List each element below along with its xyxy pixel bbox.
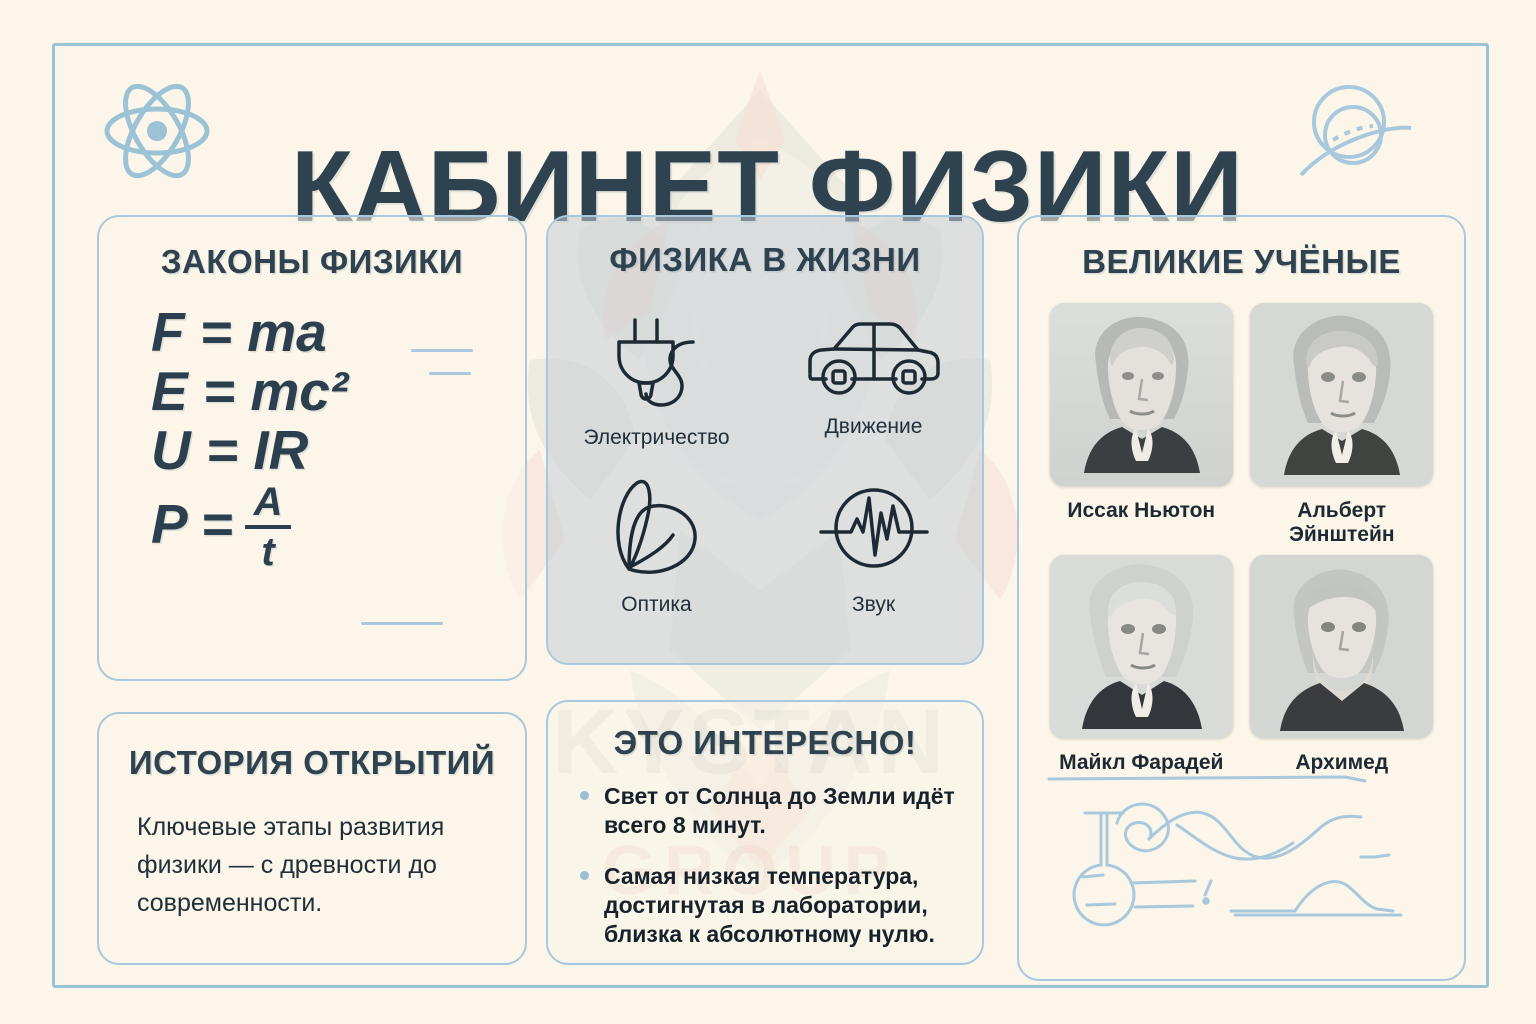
formula-item: E = mc² [151, 362, 525, 421]
fun-facts-panel-title: ЭТО ИНТЕРЕСНО! [548, 724, 982, 762]
orbit-sketch-icon [1291, 80, 1421, 190]
fun-facts-list: Свет от Солнца до Земли идёт всего 8 мин… [572, 782, 958, 949]
scientist-card[interactable]: Майкл Фарадей [1047, 555, 1236, 775]
formula-item-fraction: P = A t [151, 480, 525, 570]
life-item-label: Движение [825, 415, 923, 439]
sound-wave-icon [811, 473, 937, 583]
fun-fact-text: Свет от Солнца до Земли идёт всего 8 мин… [604, 783, 955, 838]
avatar [1250, 555, 1433, 738]
car-icon [804, 315, 944, 405]
fraction: A t [245, 482, 291, 572]
life-icon-grid: Электричество Движен [548, 293, 982, 629]
avatar [1050, 555, 1233, 738]
plug-icon [601, 304, 713, 416]
fraction-denominator: t [255, 532, 280, 572]
life-item-motion: Движение [765, 293, 982, 461]
fraction-numerator: A [248, 482, 289, 522]
life-item-label: Электричество [583, 426, 729, 450]
scientists-panel-title: ВЕЛИКИЕ УЧЁНЫЕ [1019, 243, 1464, 281]
life-panel-title: ФИЗИКА В ЖИЗНИ [548, 241, 982, 279]
fun-fact-item: Самая низкая температура, достигнутая в … [572, 862, 958, 949]
scientists-grid: Иссак Ньютон [1047, 303, 1436, 775]
laws-panel: ЗАКОНЫ ФИЗИКИ F = ma E = mc² U = IR P = … [97, 215, 527, 681]
bullet-icon [580, 791, 589, 800]
decorative-dash [429, 372, 471, 375]
fun-fact-text: Самая низкая температура, достигнутая в … [604, 863, 935, 947]
fun-fact-item: Свет от Солнца до Земли идёт всего 8 мин… [572, 782, 958, 840]
life-item-label: Оптика [621, 593, 691, 617]
laws-panel-title: ЗАКОНЫ ФИЗИКИ [99, 243, 525, 281]
formula-fraction-left: P = [151, 495, 233, 554]
scientist-name: Иссак Ньютон [1067, 499, 1215, 523]
scientist-name: Альберт Эйнштейн [1248, 499, 1437, 547]
history-panel-title: ИСТОРИЯ ОТКРЫТИЙ [99, 744, 525, 782]
scientist-card[interactable]: Архимед [1248, 555, 1437, 775]
scientists-panel: ВЕЛИКИЕ УЧЁНЫЕ [1017, 215, 1466, 981]
decorative-dash [411, 349, 473, 352]
lab-sketch-decoration [1045, 765, 1445, 955]
history-panel: ИСТОРИЯ ОТКРЫТИЙ Ключевые этапы развития… [97, 712, 527, 965]
scientist-card[interactable]: Альберт Эйнштейн [1248, 303, 1437, 547]
scientist-card[interactable]: Иссак Ньютон [1047, 303, 1236, 547]
fun-facts-panel: ЭТО ИНТЕРЕСНО! Свет от Солнца до Земли и… [546, 700, 984, 965]
history-body-text: Ключевые этапы развития физики — с древн… [137, 808, 487, 922]
physics-classroom-poster: KYSTAN GROUP КАБИНЕТ ФИЗИКИ ЗАКОНЫ ФИЗИК… [0, 0, 1536, 1024]
formula-list: F = ma E = mc² U = IR P = A t [151, 303, 525, 570]
formula-item: U = IR [151, 421, 525, 480]
life-item-optics: Оптика [548, 461, 765, 629]
life-item-label: Звук [852, 593, 895, 617]
poster-header: КАБИНЕТ ФИЗИКИ [52, 58, 1483, 193]
life-item-sound: Звук [765, 461, 982, 629]
decorative-dash [361, 622, 443, 625]
avatar [1250, 303, 1433, 486]
formula-item: F = ma [151, 303, 525, 362]
avatar [1050, 303, 1233, 486]
physics-in-life-panel: ФИЗИКА В ЖИЗНИ Электричество [546, 215, 984, 665]
life-item-electricity: Электричество [548, 293, 765, 461]
lens-icon [597, 473, 717, 583]
fraction-bar [245, 525, 291, 529]
bullet-icon [580, 871, 589, 880]
